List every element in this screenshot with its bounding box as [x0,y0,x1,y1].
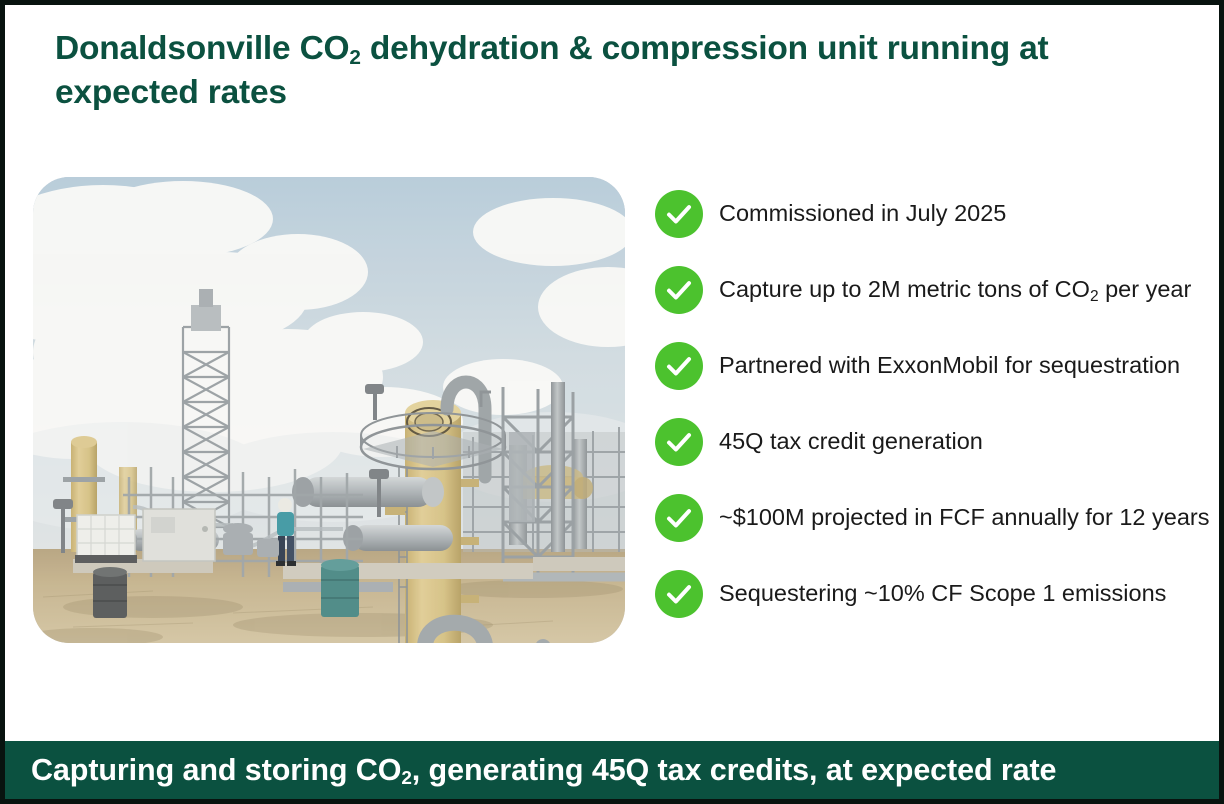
bullet-list: Commissioned in July 2025 Capture up to … [655,188,1215,619]
list-item-label: Commissioned in July 2025 [719,200,1006,227]
footer-subscript: 2 [401,768,411,789]
list-item: ~$100M projected in FCF annually for 12 … [655,492,1215,543]
list-item-label: 45Q tax credit generation [719,428,983,455]
check-circle-icon [655,494,703,542]
title-text-part1: Donaldsonville CO [55,30,349,67]
check-circle-icon [655,570,703,618]
check-circle-icon [655,266,703,314]
check-circle-icon [655,342,703,390]
list-item-text-after: per year [1099,276,1192,302]
facility-photo-image [33,177,625,643]
slide: Donaldsonville CO2 dehydration & compres… [0,0,1224,804]
list-item: 45Q tax credit generation [655,416,1215,467]
footer-text-after: , generating 45Q tax credits, at expecte… [412,753,1057,787]
check-circle-icon [655,418,703,466]
list-item: Partnered with ExxonMobil for sequestrat… [655,340,1215,391]
list-item: Commissioned in July 2025 [655,188,1215,239]
facility-photo [33,177,625,643]
page-title: Donaldsonville CO2 dehydration & compres… [55,27,1200,114]
check-circle-icon [655,190,703,238]
footer-text-before: Capturing and storing CO [31,753,401,787]
list-item-label: ~$100M projected in FCF annually for 12 … [719,504,1210,531]
list-item-label: Partnered with ExxonMobil for sequestrat… [719,352,1180,379]
footer-banner-text: Capturing and storing CO2, generating 45… [31,753,1056,788]
list-item: Capture up to 2M metric tons of CO2 per … [655,264,1215,315]
list-item-text-before: Capture up to 2M metric tons of CO [719,276,1090,302]
list-item: Sequestering ~10% CF Scope 1 emissions [655,568,1215,619]
list-item-label: Sequestering ~10% CF Scope 1 emissions [719,580,1166,607]
list-item-label: Capture up to 2M metric tons of CO2 per … [719,276,1191,303]
footer-banner: Capturing and storing CO2, generating 45… [5,741,1219,799]
title-subscript: 2 [349,46,360,69]
list-item-subscript: 2 [1090,288,1099,305]
